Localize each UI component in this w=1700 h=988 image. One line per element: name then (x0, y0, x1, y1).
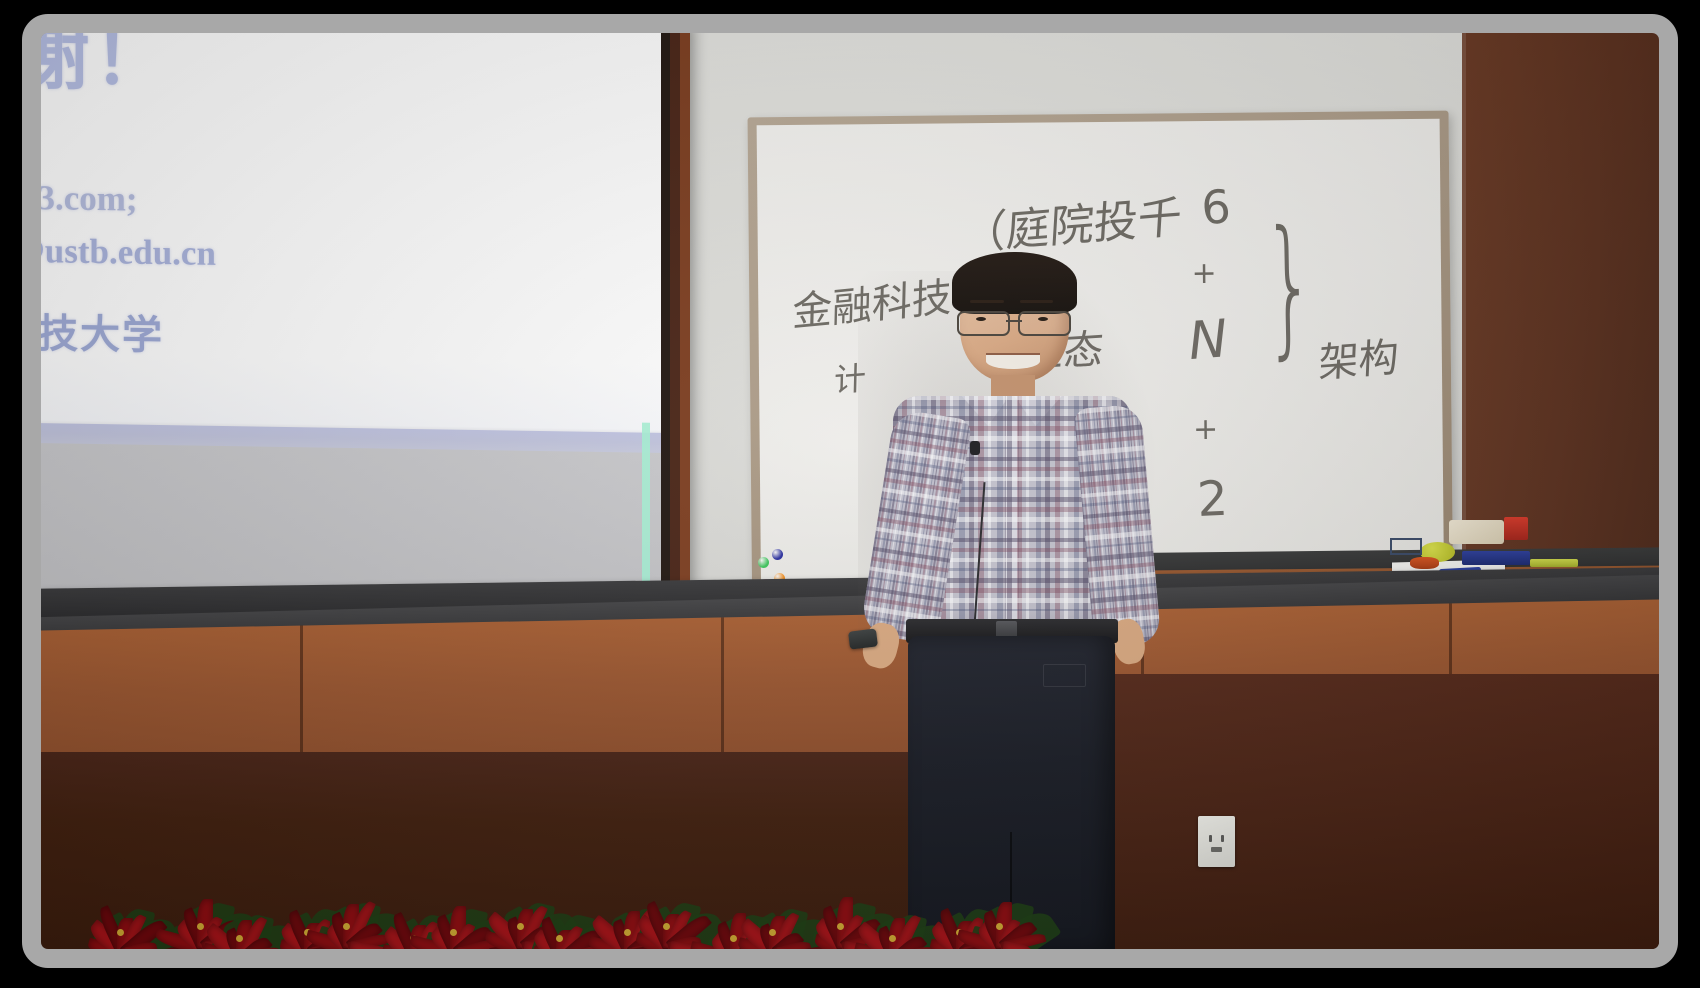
photograph: 谢！ 163.com; l@ustb.edu.cn 科技大学 金融科技 计 （庭… (41, 33, 1659, 949)
magnet-ball (772, 549, 783, 560)
snack-pack (1449, 520, 1504, 544)
flower-cluster (741, 879, 812, 949)
round-container (1410, 557, 1439, 569)
scissors (1390, 538, 1422, 556)
blue-box (1462, 551, 1530, 565)
whiteboard-note: 计 (833, 352, 866, 401)
lapel-microphone-icon (970, 441, 980, 455)
flower-row (90, 812, 980, 949)
magnet-ball (758, 557, 769, 568)
presenter-hair (952, 252, 1076, 314)
photo-frame: 谢！ 163.com; l@ustb.edu.cn 科技大学 金融科技 计 （庭… (22, 14, 1678, 968)
yellow-strip (1530, 559, 1579, 567)
flower-cluster (958, 846, 1052, 949)
magnet-balls (758, 531, 794, 563)
red-box (1504, 517, 1528, 541)
slide-title: 谢！ (41, 33, 171, 106)
photo-stage: 谢！ 163.com; l@ustb.edu.cn 科技大学 金融科技 计 （庭… (0, 0, 1700, 988)
whiteboard-note: + (1192, 411, 1217, 446)
power-outlet-icon (1198, 816, 1235, 867)
whiteboard-note: 2 (1196, 470, 1229, 527)
presenter-remote-icon (848, 628, 878, 649)
whiteboard-note: 6 (1199, 179, 1232, 235)
slide-organization: 科技大学 (41, 300, 164, 361)
flower-cluster (632, 867, 708, 949)
whiteboard-brace: } (1261, 198, 1317, 374)
whiteboard-note: + (1191, 256, 1216, 291)
whiteboard-note: （庭院投千 (960, 180, 1183, 262)
whiteboard-note: 架构 (1317, 324, 1399, 389)
eyeglasses-icon (957, 311, 1071, 332)
slide-email-line-1: 163.com; (41, 178, 137, 220)
slide-email-line-2: l@ustb.edu.cn (41, 231, 216, 274)
flower-cluster (90, 883, 158, 949)
whiteboard-note: N (1186, 308, 1230, 371)
